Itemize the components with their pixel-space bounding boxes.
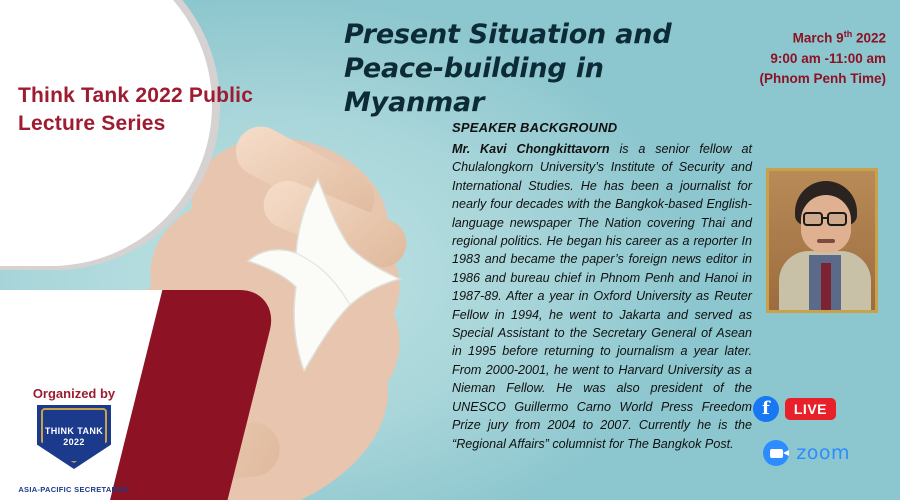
live-label: LIVE [785, 398, 836, 420]
main-title: Present Situation and Peace-building in … [344, 18, 744, 120]
portrait-glasses-right [827, 212, 847, 226]
series-title: Think Tank 2022 Public Lecture Series [18, 82, 258, 138]
date-text: March 9 [793, 31, 844, 46]
timezone-line: (Phnom Penh Time) [706, 69, 886, 89]
speaker-portrait [766, 168, 878, 313]
speaker-background-text: Mr. Kavi Chongkittavorn is a senior fell… [452, 140, 752, 453]
date-year: 2022 [852, 31, 886, 46]
facebook-icon[interactable]: f [753, 396, 779, 422]
date-ordinal: th [844, 29, 853, 39]
zoom-badge[interactable]: zoom [763, 440, 850, 466]
organizer-block: Organized by THINK TANK 2022 ASIA-PACIFI… [8, 386, 140, 494]
portrait-mouth [817, 239, 835, 243]
portrait-tie [821, 263, 831, 311]
date-line: March 9th 2022 [706, 24, 886, 49]
poster-canvas: Think Tank 2022 Public Lecture Series Or… [0, 0, 900, 500]
facebook-live-badge[interactable]: f LIVE [753, 396, 836, 422]
organized-by-label: Organized by [8, 386, 140, 401]
logo-subtitle: ASIA-PACIFIC SECRETARIAT [8, 485, 140, 494]
date-time-block: March 9th 2022 9:00 am -11:00 am (Phnom … [706, 24, 886, 89]
video-camera-icon [770, 449, 783, 458]
portrait-glasses-left [803, 212, 823, 226]
time-line: 9:00 am -11:00 am [706, 49, 886, 69]
zoom-icon[interactable] [763, 440, 789, 466]
think-tank-logo: THINK TANK 2022 [28, 405, 120, 483]
portrait-glasses-bridge [823, 217, 829, 219]
speaker-name: Mr. Kavi Chongkittavorn [452, 142, 610, 156]
speaker-background-heading: SPEAKER BACKGROUND [452, 120, 617, 135]
zoom-label: zoom [796, 442, 850, 464]
shield-ring-icon [41, 408, 107, 463]
speaker-bio: is a senior fellow at Chulalongkorn Univ… [452, 142, 752, 451]
